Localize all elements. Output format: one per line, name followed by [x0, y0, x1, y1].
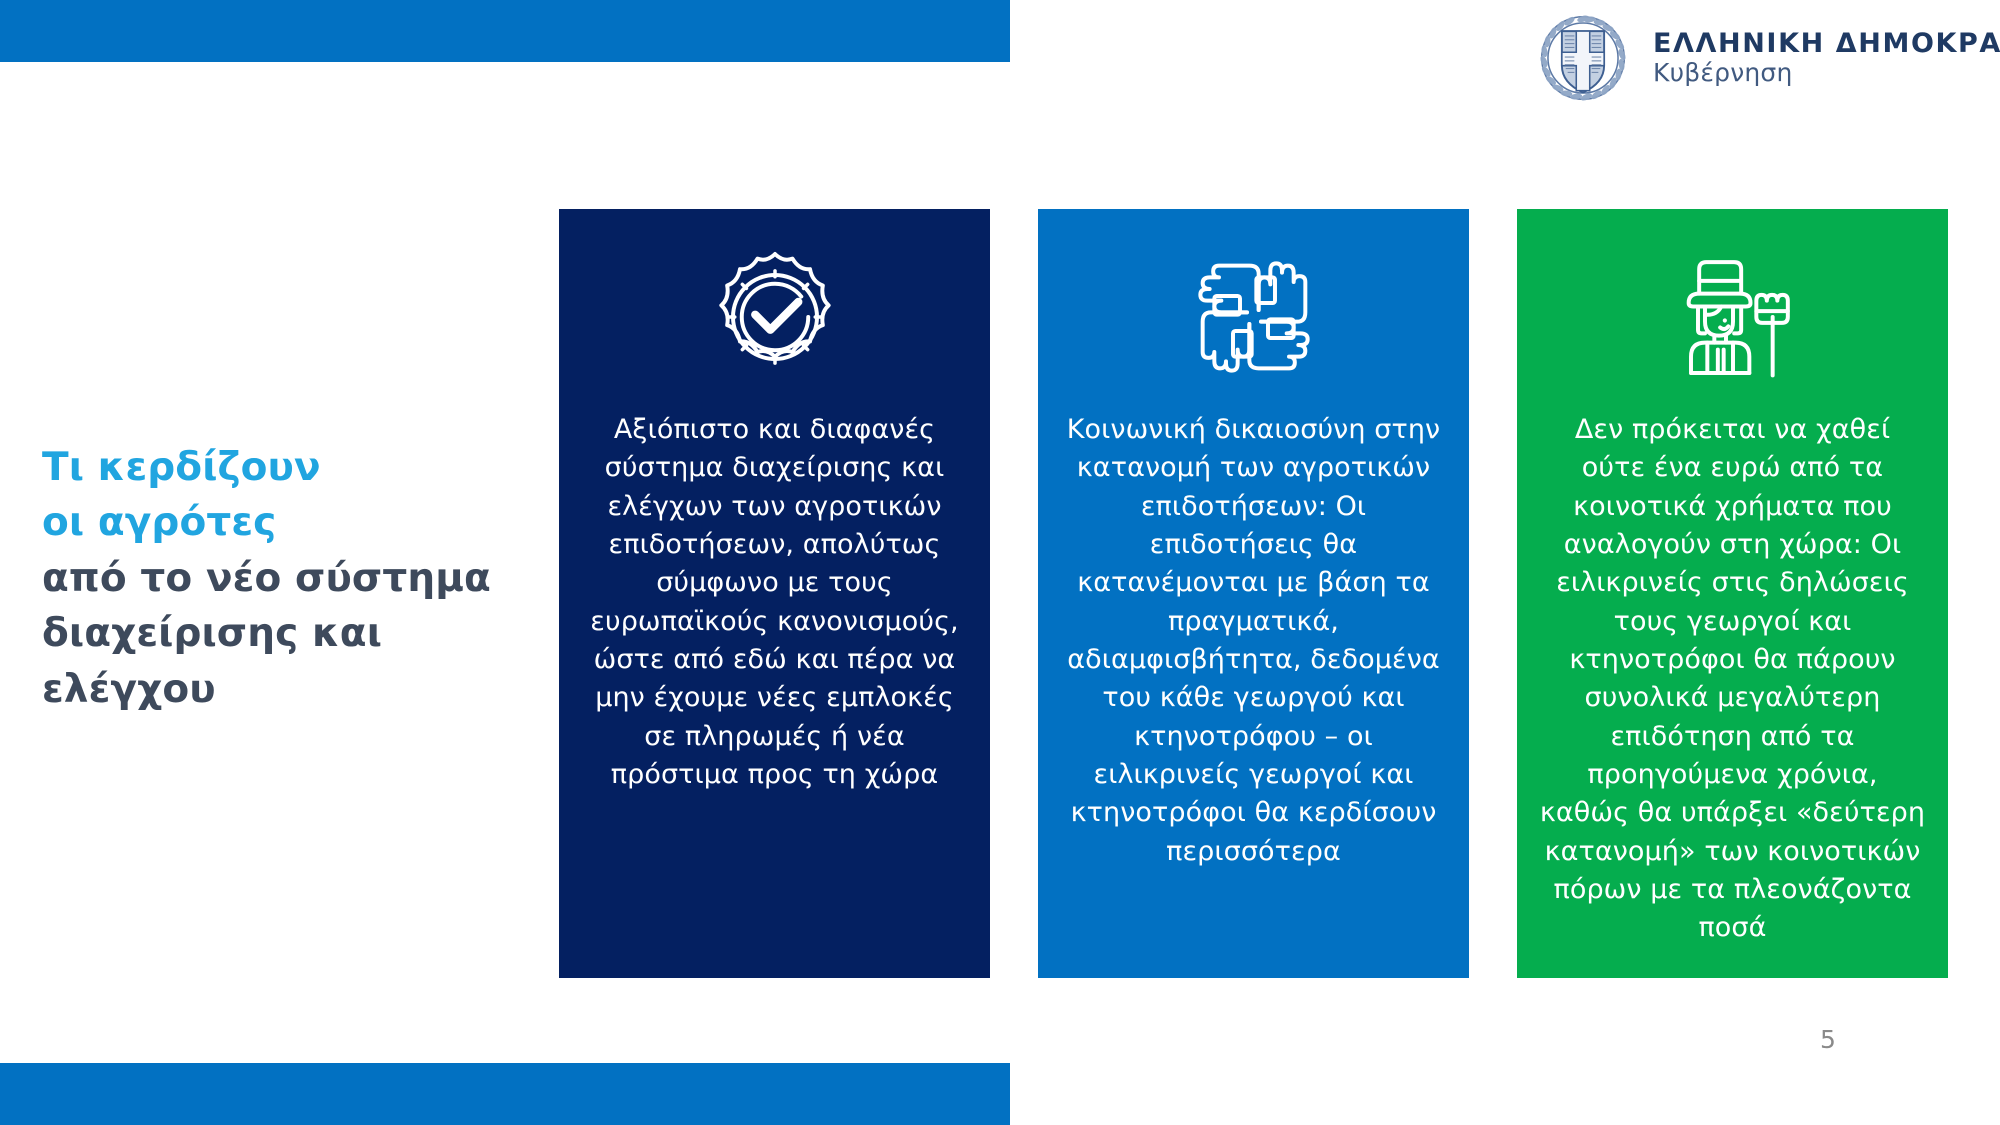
farmer-with-rake-icon: [1653, 247, 1813, 387]
decorative-top-bar: [0, 0, 1010, 62]
headline-line-4: διαχείρισης και: [42, 606, 522, 661]
benefit-card-no-lost-funds: Δεν πρόκειται να χαθεί ούτε ένα ευρώ από…: [1517, 209, 1948, 978]
benefit-card-text: Κοινωνική δικαιοσύνη στην κατανομή των α…: [1060, 411, 1447, 871]
headline-line-1: Τι κερδίζουν: [42, 440, 522, 495]
benefit-card-reliable-system: Αξιόπιστο και διαφανές σύστημα διαχείρισ…: [559, 209, 990, 978]
benefit-card-text: Δεν πρόκειται να χαθεί ούτε ένα ευρώ από…: [1539, 411, 1926, 948]
page-number: 5: [1820, 1025, 1836, 1054]
brand-title: ΕΛΛΗΝΙΚΗ ΔΗΜΟΚΡΑΤΙΑ: [1653, 29, 2000, 59]
headline-line-3: από το νέο σύστημα: [42, 551, 522, 606]
slide-root: ΕΛΛΗΝΙΚΗ ΔΗΜΟΚΡΑΤΙΑ Κυβέρνηση Τι κερδίζο…: [0, 0, 2000, 1125]
benefit-card-social-justice: Κοινωνική δικαιοσύνη στην κατανομή των α…: [1038, 209, 1469, 978]
greek-republic-coat-of-arms-icon: [1535, 10, 1631, 106]
benefit-card-text: Αξιόπιστο και διαφανές σύστημα διαχείρισ…: [581, 411, 968, 794]
headline-line-2: οι αγρότες: [42, 495, 522, 550]
brand-subtitle: Κυβέρνηση: [1653, 59, 2000, 87]
four-hands-teamwork-icon: [1174, 247, 1334, 387]
headline-line-5: ελέγχου: [42, 662, 522, 717]
decorative-bottom-bar: [0, 1063, 1010, 1125]
brand-text-block: ΕΛΛΗΝΙΚΗ ΔΗΜΟΚΡΑΤΙΑ Κυβέρνηση: [1653, 29, 2000, 87]
brand-lockup: ΕΛΛΗΝΙΚΗ ΔΗΜΟΚΡΑΤΙΑ Κυβέρνηση: [1535, 10, 2000, 106]
verified-badge-check-icon: [695, 247, 855, 387]
page-title: Τι κερδίζουν οι αγρότες από το νέο σύστη…: [42, 440, 522, 717]
